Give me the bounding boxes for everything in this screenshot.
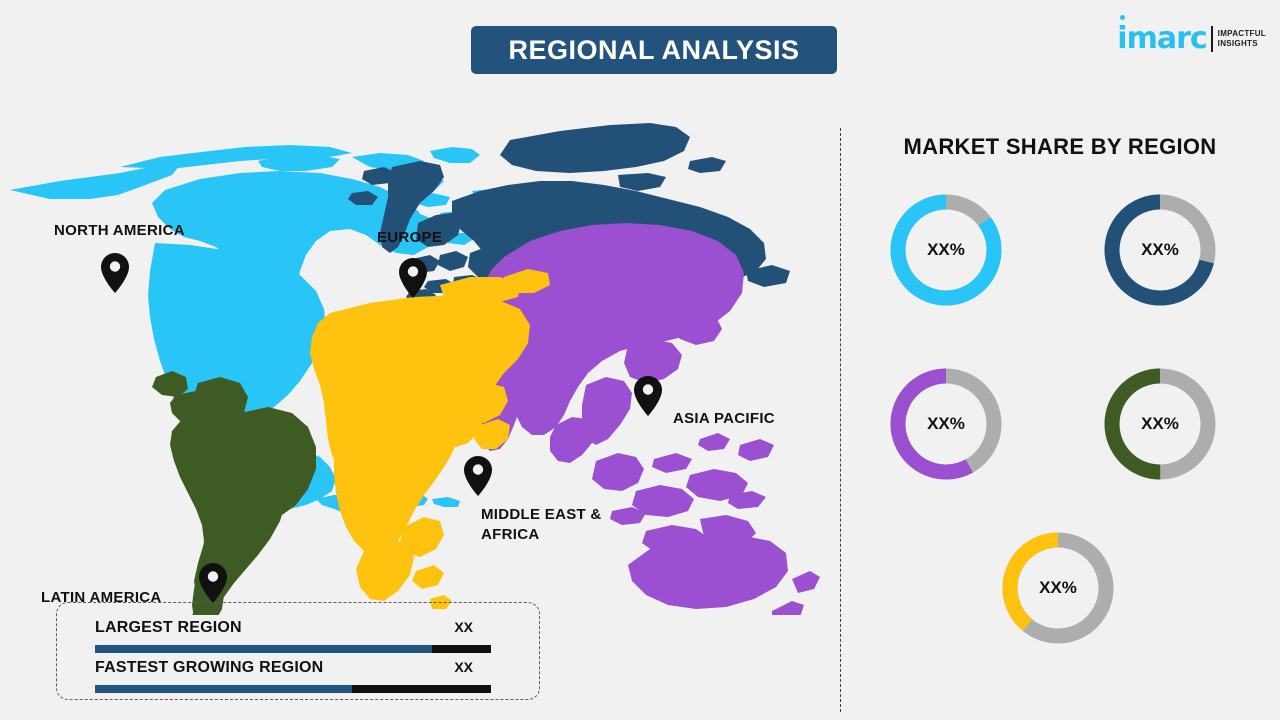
market-share-title: MARKET SHARE BY REGION — [840, 134, 1280, 160]
donut-value-label: XX% — [994, 524, 1122, 652]
logo-tagline-line2: INSIGHTS — [1218, 39, 1266, 49]
imarc-logo: imarc IMPACTFUL INSIGHTS — [1117, 22, 1266, 56]
map-pin-north-america-icon — [98, 251, 132, 295]
donut-chart-north-america: XX% — [882, 186, 1010, 314]
page-title-banner: REGIONAL ANALYSIS — [471, 26, 837, 74]
map-label-europe: EUROPE — [377, 228, 442, 248]
map-label-north-america: NORTH AMERICA — [54, 221, 185, 241]
legend-label-largest-region: LARGEST REGION — [95, 619, 242, 637]
map-pin-middle-east-africa-icon — [461, 454, 495, 498]
world-map-graphic — [0, 95, 820, 615]
legend-value-largest-region: XX — [454, 619, 473, 635]
map-pin-europe-icon — [396, 256, 430, 300]
legend-head: LARGEST REGION XX — [95, 619, 491, 641]
donut-value-label: XX% — [882, 186, 1010, 314]
legend-row-largest-region: LARGEST REGION XX — [95, 619, 491, 653]
map-pin-asia-pacific-icon — [631, 374, 665, 418]
donut-chart-latin-america: XX% — [1096, 360, 1224, 488]
logo-divider — [1211, 26, 1213, 52]
map-pin-latin-america-icon — [196, 561, 230, 605]
map-region-middle-east-africa — [310, 269, 550, 609]
map-label-asia-pacific: ASIA PACIFIC — [673, 409, 775, 429]
market-share-donut-grid: XX%XX%XX%XX%XX% — [860, 180, 1260, 700]
donut-chart-europe: XX% — [1096, 186, 1224, 314]
region-summary-box: LARGEST REGION XX FASTEST GROWING REGION… — [56, 602, 540, 700]
page-title: REGIONAL ANALYSIS — [508, 35, 799, 66]
logo-wordmark: imarc — [1117, 24, 1206, 54]
logo-dot-icon — [1120, 15, 1125, 20]
legend-bar-largest-region — [95, 645, 491, 653]
legend-bar-fill — [95, 645, 432, 653]
logo-tagline: IMPACTFUL INSIGHTS — [1218, 29, 1266, 49]
legend-row-fastest-growing-region: FASTEST GROWING REGION XX — [95, 659, 491, 693]
legend-label-fastest-growing-region: FASTEST GROWING REGION — [95, 659, 323, 677]
donut-value-label: XX% — [1096, 360, 1224, 488]
legend-value-fastest-growing-region: XX — [454, 659, 473, 675]
legend-bar-fastest-growing-region — [95, 685, 491, 693]
world-map-panel: NORTH AMERICA EUROPE ASIA PACIFIC MIDDLE… — [0, 95, 820, 615]
panel-divider — [840, 128, 841, 712]
donut-chart-asia-pacific: XX% — [882, 360, 1010, 488]
donut-value-label: XX% — [882, 360, 1010, 488]
donut-chart-middle-east-africa: XX% — [994, 524, 1122, 652]
map-region-latin-america — [152, 371, 316, 615]
legend-head: FASTEST GROWING REGION XX — [95, 659, 491, 681]
donut-value-label: XX% — [1096, 186, 1224, 314]
logo-tagline-line1: IMPACTFUL — [1218, 29, 1266, 39]
map-label-middle-east-africa: MIDDLE EAST & AFRICA — [481, 505, 602, 545]
legend-bar-fill — [95, 685, 352, 693]
